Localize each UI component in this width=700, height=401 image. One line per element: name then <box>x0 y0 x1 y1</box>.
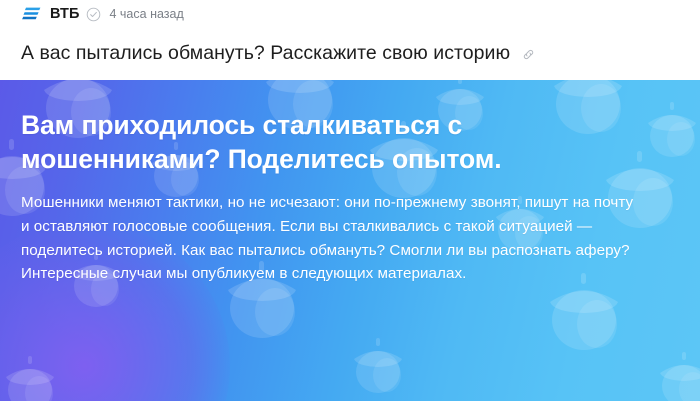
vtb-logo-icon <box>22 7 41 21</box>
post-page: ВТБ 4 часа назад А вас пытались обмануть… <box>0 0 700 401</box>
verified-check-icon <box>86 7 101 22</box>
banner-content: Вам приходилось сталкиваться с мошенника… <box>0 80 700 286</box>
banner-heading: Вам приходилось сталкиваться с мошенника… <box>21 108 646 177</box>
banner-body-text: Мошенники меняют тактики, но не исчезают… <box>21 191 641 286</box>
page-title[interactable]: А вас пытались обмануть? Расскажите свою… <box>21 42 510 65</box>
post-title-row: А вас пытались обмануть? Расскажите свою… <box>0 29 700 79</box>
source-name[interactable]: ВТБ <box>50 7 80 22</box>
post-meta-row: ВТБ 4 часа назад <box>0 0 700 28</box>
chain-link-icon[interactable] <box>521 47 536 62</box>
post-timestamp: 4 часа назад <box>110 8 184 21</box>
promo-banner: Вам приходилось сталкиваться с мошенника… <box>0 80 700 401</box>
